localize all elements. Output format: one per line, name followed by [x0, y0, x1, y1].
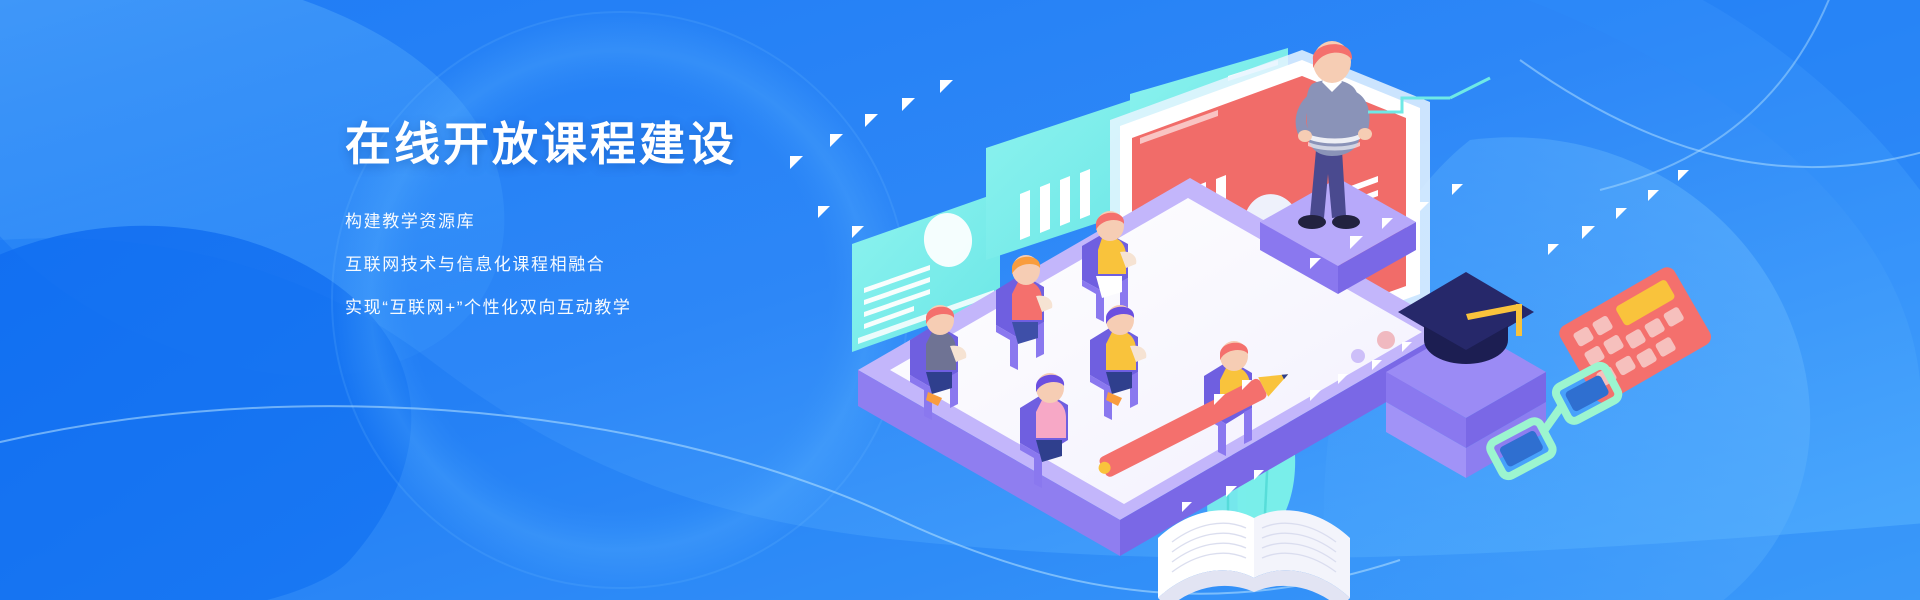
hero-banner: 在线开放课程建设 构建教学资源库 互联网技术与信息化课程相融合 实现“互联网+”… — [0, 0, 1920, 600]
triangle-particles-left — [790, 80, 953, 238]
connector-line — [1450, 78, 1490, 98]
online-classroom-illustration — [790, 40, 1920, 600]
open-book — [1158, 510, 1350, 600]
